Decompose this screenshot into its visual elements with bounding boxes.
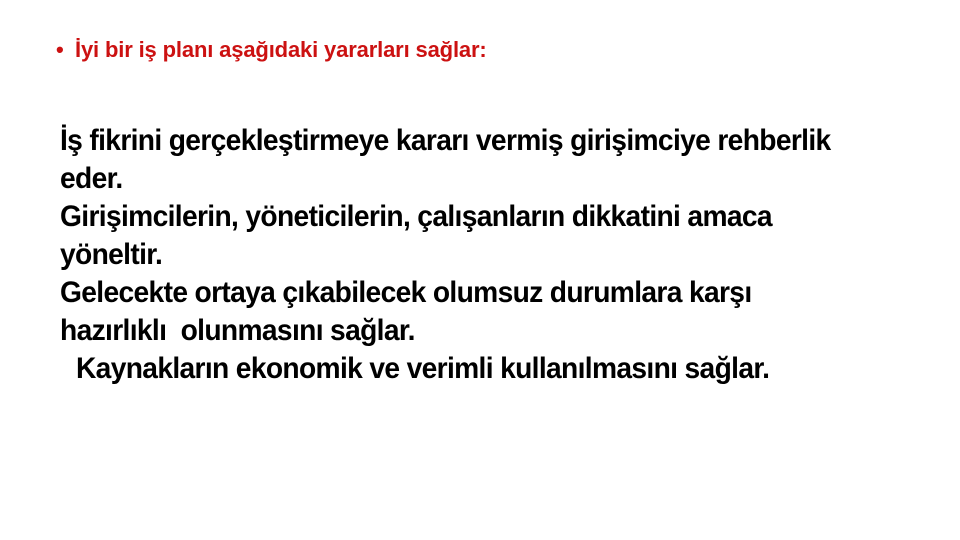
slide-body-block: İş fikrini gerçekleştirmeye kararı vermi…: [60, 122, 890, 388]
body-paragraph-3: Gelecekte ortaya çıkabilecek olumsuz dur…: [60, 274, 840, 350]
body-paragraph-1: İş fikrini gerçekleştirmeye kararı vermi…: [60, 122, 840, 198]
body-paragraph-2: Girişimcilerin, yöneticilerin, çalışanla…: [60, 198, 840, 274]
slide-heading-block: • İyi bir iş planı aşağıdaki yararları s…: [56, 36, 916, 64]
presentation-slide: • İyi bir iş planı aşağıdaki yararları s…: [0, 0, 960, 540]
slide-heading-text: İyi bir iş planı aşağıdaki yararları sağ…: [75, 36, 487, 64]
body-paragraph-4: Kaynakların ekonomik ve verimli kullanıl…: [60, 350, 840, 388]
heading-bullet-item: • İyi bir iş planı aşağıdaki yararları s…: [56, 36, 916, 64]
bullet-point-icon: •: [56, 36, 75, 64]
